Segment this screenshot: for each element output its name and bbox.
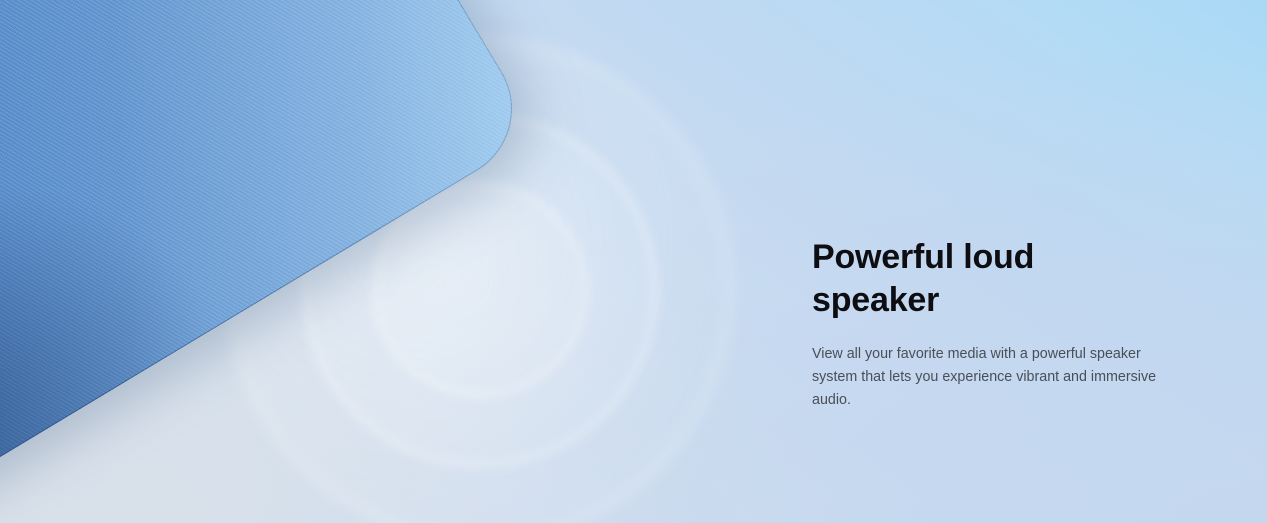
phone-edge-specular-highlight [0, 0, 539, 523]
phone-drop-shadow [0, 0, 557, 523]
feature-headline: Powerful loud speaker [812, 236, 1162, 321]
sound-wave-ring-inner [375, 185, 585, 395]
phone-background-blend [0, 0, 539, 523]
sound-wave-ring-outer [230, 40, 730, 523]
feature-copy-block: Powerful loud speaker View all your favo… [812, 236, 1162, 412]
phone-device [0, 0, 539, 523]
phone-back-panel [0, 0, 539, 523]
product-feature-banner: Powerful loud speaker View all your favo… [0, 0, 1267, 523]
phone-stripe-texture [0, 0, 539, 523]
phone-corner-shading [0, 0, 539, 523]
phone-weave-texture [0, 0, 539, 523]
sound-wave-ring-middle [305, 115, 655, 465]
feature-description: View all your favorite media with a powe… [812, 343, 1162, 412]
